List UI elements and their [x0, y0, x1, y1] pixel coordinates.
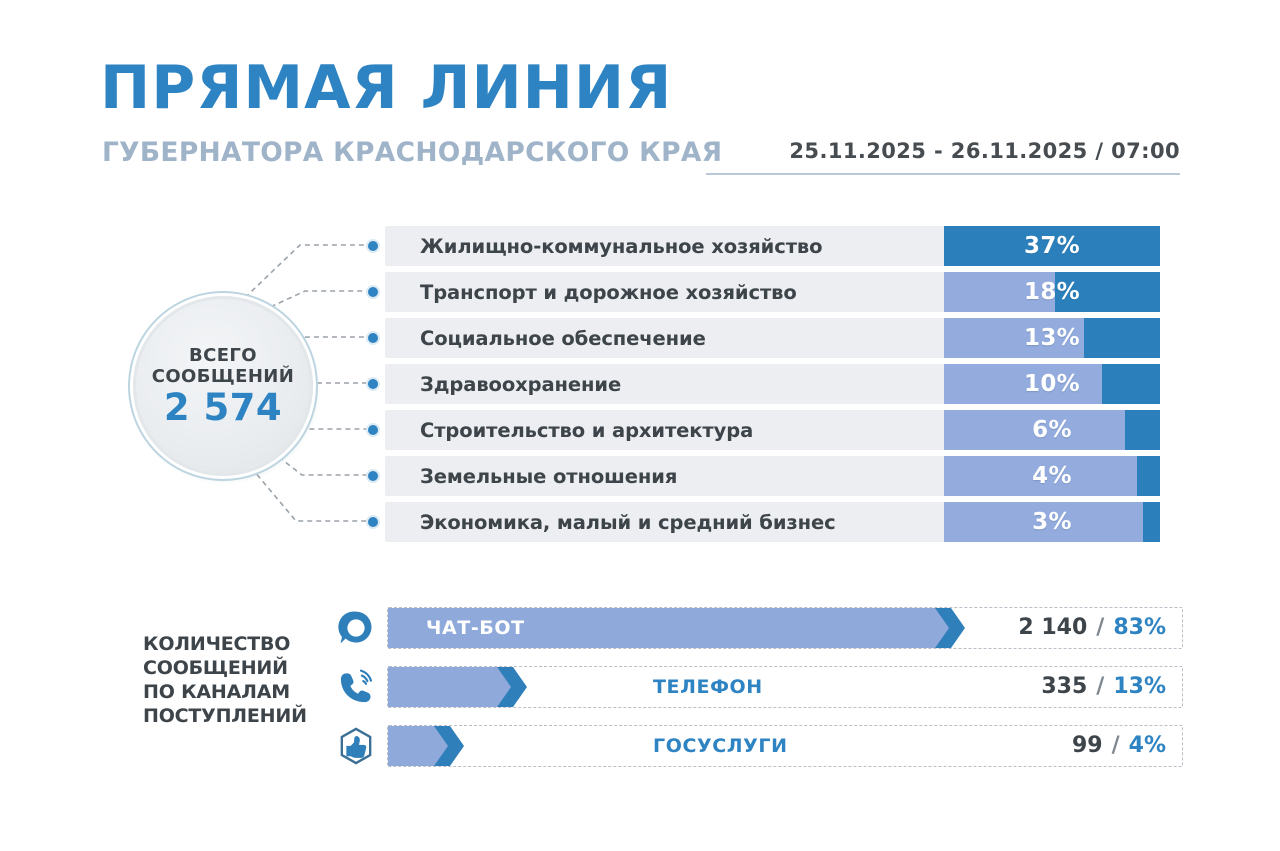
category-label: Транспорт и дорожное хозяйство — [385, 281, 797, 304]
page-title: ПРЯМАЯ ЛИНИЯ — [100, 58, 672, 118]
channel-row: ЧАТ-БОТ2 140/83% — [325, 600, 1183, 655]
channel-percent: 13% — [1113, 674, 1166, 699]
channel-count: 2 140 — [1018, 615, 1087, 640]
channel-percent: 83% — [1113, 615, 1166, 640]
header: ПРЯМАЯ ЛИНИЯ ГУБЕРНАТОРА КРАСНОДАРСКОГО … — [0, 0, 1280, 200]
phone-call-icon — [325, 667, 387, 707]
channel-name-label: ГОСУСЛУГИ — [653, 726, 788, 766]
category-label-cell: Экономика, малый и средний бизнес — [385, 502, 944, 542]
connector-dot-icon — [368, 287, 378, 297]
category-label-cell: Земельные отношения — [385, 456, 944, 496]
category-percent-label: 18% — [944, 272, 1160, 312]
category-row: Жилищно-коммунальное хозяйство37% — [385, 226, 1160, 266]
connector-dot-icon — [368, 379, 378, 389]
category-row: Экономика, малый и средний бизнес3% — [385, 502, 1160, 542]
category-percent-label: 13% — [944, 318, 1160, 358]
badge-label-line2: СООБЩЕНИЙ — [152, 367, 295, 387]
channels-section-title: КОЛИЧЕСТВОСООБЩЕНИЙПО КАНАЛАМПОСТУПЛЕНИЙ — [143, 632, 318, 729]
header-divider — [706, 173, 1180, 175]
category-label: Социальное обеспечение — [385, 327, 706, 350]
category-label: Экономика, малый и средний бизнес — [385, 511, 836, 534]
connector-dot-icon — [368, 333, 378, 343]
connector-dot-icon — [368, 517, 378, 527]
connector-dot-icon — [368, 241, 378, 251]
channel-count: 99 — [1072, 733, 1103, 758]
channel-count: 335 — [1041, 674, 1087, 699]
channels-title-line: КОЛИЧЕСТВО — [143, 632, 318, 656]
connector-dot-icon — [368, 471, 378, 481]
channel-values: 2 140/83% — [1018, 608, 1166, 648]
channel-bar-track: ГОСУСЛУГИ99/4% — [387, 725, 1183, 767]
channels-title-line: ПОСТУПЛЕНИЙ — [143, 704, 318, 728]
category-label-cell: Здравоохранение — [385, 364, 944, 404]
category-label: Жилищно-коммунальное хозяйство — [385, 235, 822, 258]
channels-title-line: ПО КАНАЛАМ — [143, 680, 318, 704]
channel-bar-track: ТЕЛЕФОН335/13% — [387, 666, 1183, 708]
category-label-cell: Жилищно-коммунальное хозяйство — [385, 226, 944, 266]
channel-values: 335/13% — [1041, 667, 1166, 707]
chat-bubble-icon — [325, 608, 387, 648]
category-bar: 6% — [944, 410, 1160, 450]
channels-title-line: СООБЩЕНИЙ — [143, 656, 318, 680]
channel-separator: / — [1112, 733, 1120, 758]
category-label: Здравоохранение — [385, 373, 621, 396]
channel-bar-fill — [388, 667, 511, 707]
category-row: Транспорт и дорожное хозяйство18% — [385, 272, 1160, 312]
category-bar: 37% — [944, 226, 1160, 266]
category-bar: 10% — [944, 364, 1160, 404]
channel-bar-arrow-icon — [935, 608, 965, 648]
category-label-cell: Строительство и архитектура — [385, 410, 944, 450]
channel-row: ГОСУСЛУГИ99/4% — [325, 718, 1183, 773]
category-row: Строительство и архитектура6% — [385, 410, 1160, 450]
page-subtitle: ГУБЕРНАТОРА КРАСНОДАРСКОГО КРАЯ — [102, 140, 722, 167]
channel-row: ТЕЛЕФОН335/13% — [325, 659, 1183, 714]
channel-name-label: ТЕЛЕФОН — [653, 667, 763, 707]
category-percent-label: 6% — [944, 410, 1160, 450]
category-label-cell: Социальное обеспечение — [385, 318, 944, 358]
badge-total-value: 2 574 — [164, 389, 282, 426]
channel-values: 99/4% — [1072, 726, 1166, 766]
channels-section: КОЛИЧЕСТВОСООБЩЕНИЙПО КАНАЛАМПОСТУПЛЕНИЙ… — [143, 600, 1183, 785]
channel-bar-track: ЧАТ-БОТ2 140/83% — [387, 607, 1183, 649]
infographic-page: ПРЯМАЯ ЛИНИЯ ГУБЕРНАТОРА КРАСНОДАРСКОГО … — [0, 0, 1280, 851]
category-bar: 13% — [944, 318, 1160, 358]
category-label: Строительство и архитектура — [385, 419, 753, 442]
total-messages-badge: ВСЕГО СООБЩЕНИЙ 2 574 — [133, 296, 313, 476]
channel-separator: / — [1096, 615, 1104, 640]
category-percent-label: 3% — [944, 502, 1160, 542]
category-percent-label: 10% — [944, 364, 1160, 404]
category-bar-chart: Жилищно-коммунальное хозяйство37%Транспо… — [385, 226, 1160, 548]
category-percent-label: 4% — [944, 456, 1160, 496]
category-label-cell: Транспорт и дорожное хозяйство — [385, 272, 944, 312]
thumbs-up-icon — [325, 726, 387, 766]
channel-separator: / — [1096, 674, 1104, 699]
channel-bar-arrow-icon — [497, 667, 527, 707]
channel-bar-arrow-icon — [434, 726, 464, 766]
connector-dot-icon — [368, 425, 378, 435]
channel-percent: 4% — [1129, 733, 1166, 758]
channel-name-label: ЧАТ-БОТ — [426, 608, 525, 648]
category-label: Земельные отношения — [385, 465, 677, 488]
channels-bar-chart: ЧАТ-БОТ2 140/83%ТЕЛЕФОН335/13%ГОСУСЛУГИ9… — [325, 600, 1183, 777]
category-percent-label: 37% — [944, 226, 1160, 266]
category-bar: 4% — [944, 456, 1160, 496]
category-row: Здравоохранение10% — [385, 364, 1160, 404]
category-row: Земельные отношения4% — [385, 456, 1160, 496]
category-bar: 18% — [944, 272, 1160, 312]
date-range: 25.11.2025 - 26.11.2025 / 07:00 — [789, 139, 1180, 163]
badge-label-line1: ВСЕГО — [189, 346, 257, 366]
category-bar: 3% — [944, 502, 1160, 542]
category-row: Социальное обеспечение13% — [385, 318, 1160, 358]
